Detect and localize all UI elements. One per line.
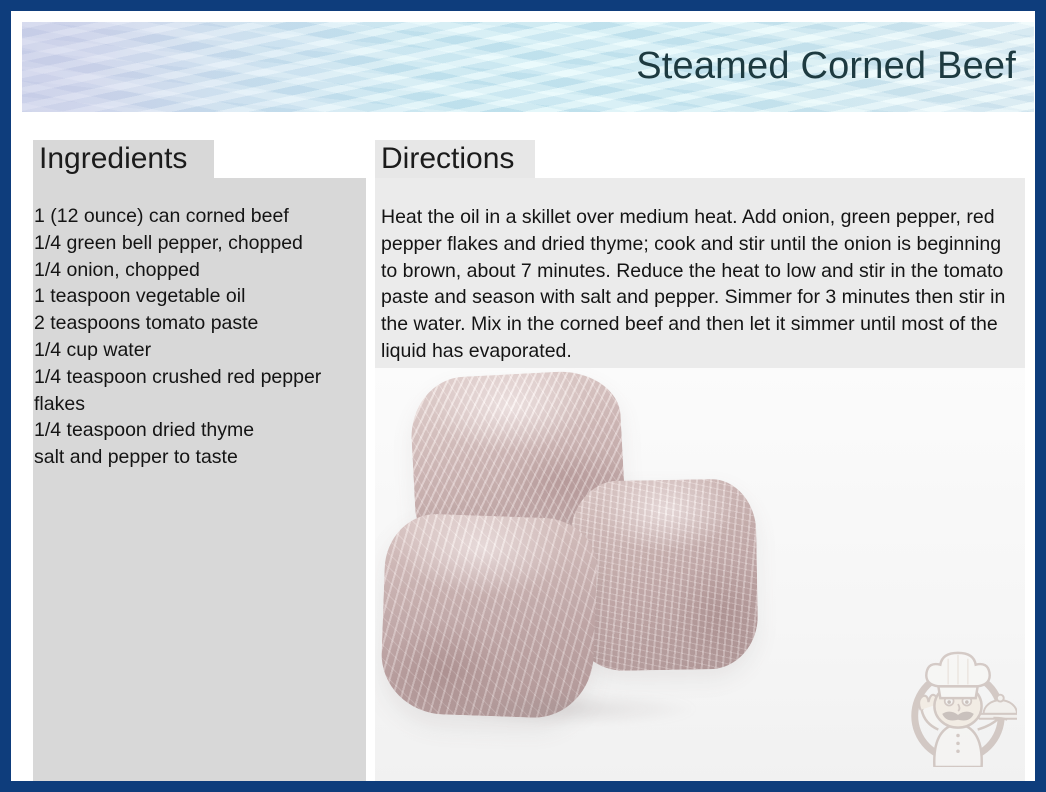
list-item: 1/4 green bell pepper, chopped bbox=[34, 230, 364, 257]
directions-panel: Heat the oil in a skillet over medium he… bbox=[375, 178, 1025, 782]
header-banner: Steamed Corned Beef bbox=[22, 22, 1034, 112]
directions-text: Heat the oil in a skillet over medium he… bbox=[381, 204, 1021, 365]
recipe-card: Steamed Corned Beef Ingredients 1 (12 ou… bbox=[0, 0, 1046, 792]
photo-shadow bbox=[405, 686, 745, 732]
recipe-photo bbox=[375, 368, 1025, 782]
beef-chunk-right bbox=[569, 478, 758, 671]
ingredients-tab: Ingredients bbox=[33, 140, 214, 178]
list-item: 2 teaspoons tomato paste bbox=[34, 310, 364, 337]
list-item: 1/4 cup water bbox=[34, 337, 364, 364]
recipe-title: Steamed Corned Beef bbox=[636, 46, 1016, 88]
directions-tab: Directions bbox=[375, 140, 535, 178]
ingredients-list: 1 (12 ounce) can corned beef 1/4 green b… bbox=[34, 203, 364, 471]
list-item: 1/4 teaspoon dried thyme bbox=[34, 417, 364, 444]
list-item: 1/4 teaspoon crushed red pepper flakes bbox=[34, 364, 364, 418]
list-item: salt and pepper to taste bbox=[34, 444, 364, 471]
ingredients-heading: Ingredients bbox=[39, 140, 187, 178]
list-item: 1/4 onion, chopped bbox=[34, 257, 364, 284]
directions-heading: Directions bbox=[381, 140, 514, 178]
list-item: 1 teaspoon vegetable oil bbox=[34, 283, 364, 310]
ingredients-panel: 1 (12 ounce) can corned beef 1/4 green b… bbox=[33, 178, 366, 782]
list-item: 1 (12 ounce) can corned beef bbox=[34, 203, 364, 230]
